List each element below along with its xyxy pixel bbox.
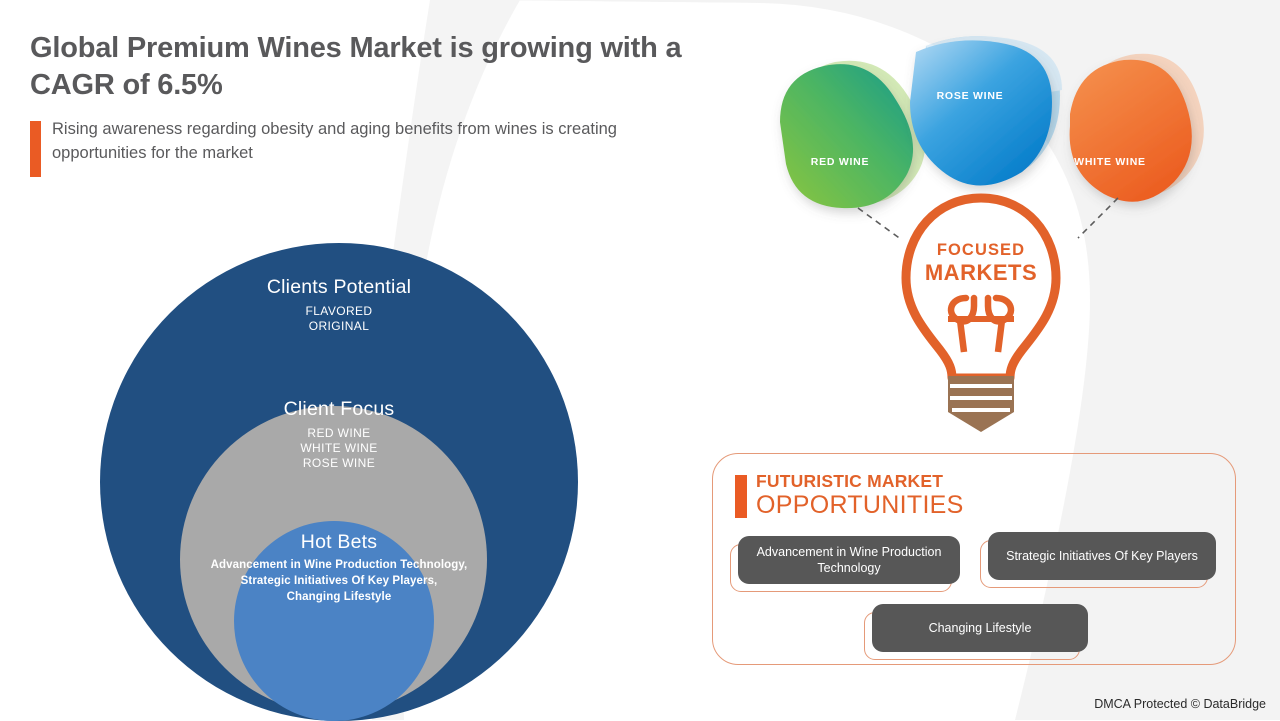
page-subtitle: Rising awareness regarding obesity and a… <box>52 118 690 177</box>
client-focus-items: RED WINE WHITE WINE ROSE WINE <box>100 426 578 471</box>
header-block: Global Premium Wines Market is growing w… <box>30 30 690 177</box>
clients-potential-title: Clients Potential <box>100 276 578 299</box>
rose-wine-label: ROSE WINE <box>905 90 1035 102</box>
footer-copyright: DMCA Protected © DataBridge <box>1094 697 1266 711</box>
concentric-circles-diagram: Clients Potential FLAVORED ORIGINAL Clie… <box>100 243 578 721</box>
focused-markets-bulb: FOCUSED MARKETS <box>888 186 1074 436</box>
accent-bar <box>30 121 41 177</box>
page-title: Global Premium Wines Market is growing w… <box>30 30 690 104</box>
panel-accent-bar <box>735 475 747 518</box>
panel-heading-line1: FUTURISTIC MARKET <box>756 473 964 491</box>
rose-wine-shape <box>910 40 1052 185</box>
bulb-caption-line2: MARKETS <box>888 262 1074 284</box>
bulb-caption: FOCUSED MARKETS <box>888 242 1074 284</box>
bulb-caption-line1: FOCUSED <box>888 242 1074 259</box>
infographic-canvas: Global Premium Wines Market is growing w… <box>0 0 1280 720</box>
red-wine-label: RED WINE <box>775 156 905 168</box>
bulb-filament-stem-right <box>998 320 1002 352</box>
panel-heading: FUTURISTIC MARKET OPPORTUNITIES <box>735 473 964 518</box>
label-hot-bets: Hot Bets Advancement in Wine Production … <box>100 531 578 605</box>
connector-white-dashed <box>1078 198 1118 238</box>
clients-potential-items: FLAVORED ORIGINAL <box>100 304 578 334</box>
white-wine-shape <box>1070 60 1192 202</box>
bulb-glass <box>906 198 1056 378</box>
white-wine-label: WHITE WINE <box>1045 156 1175 168</box>
bulb-icon <box>888 186 1074 436</box>
futuristic-opportunities-panel: FUTURISTIC MARKET OPPORTUNITIES <box>712 453 1236 665</box>
bulb-filament-stem-left <box>960 320 964 352</box>
subtitle-row: Rising awareness regarding obesity and a… <box>30 118 690 177</box>
hot-bets-items: Advancement in Wine Production Technolog… <box>100 558 578 605</box>
label-clients-potential: Clients Potential FLAVORED ORIGINAL <box>100 276 578 334</box>
hot-bets-title: Hot Bets <box>100 531 578 554</box>
label-client-focus: Client Focus RED WINE WHITE WINE ROSE WI… <box>100 398 578 471</box>
panel-heading-line2: OPPORTUNITIES <box>756 492 964 518</box>
client-focus-title: Client Focus <box>100 398 578 421</box>
